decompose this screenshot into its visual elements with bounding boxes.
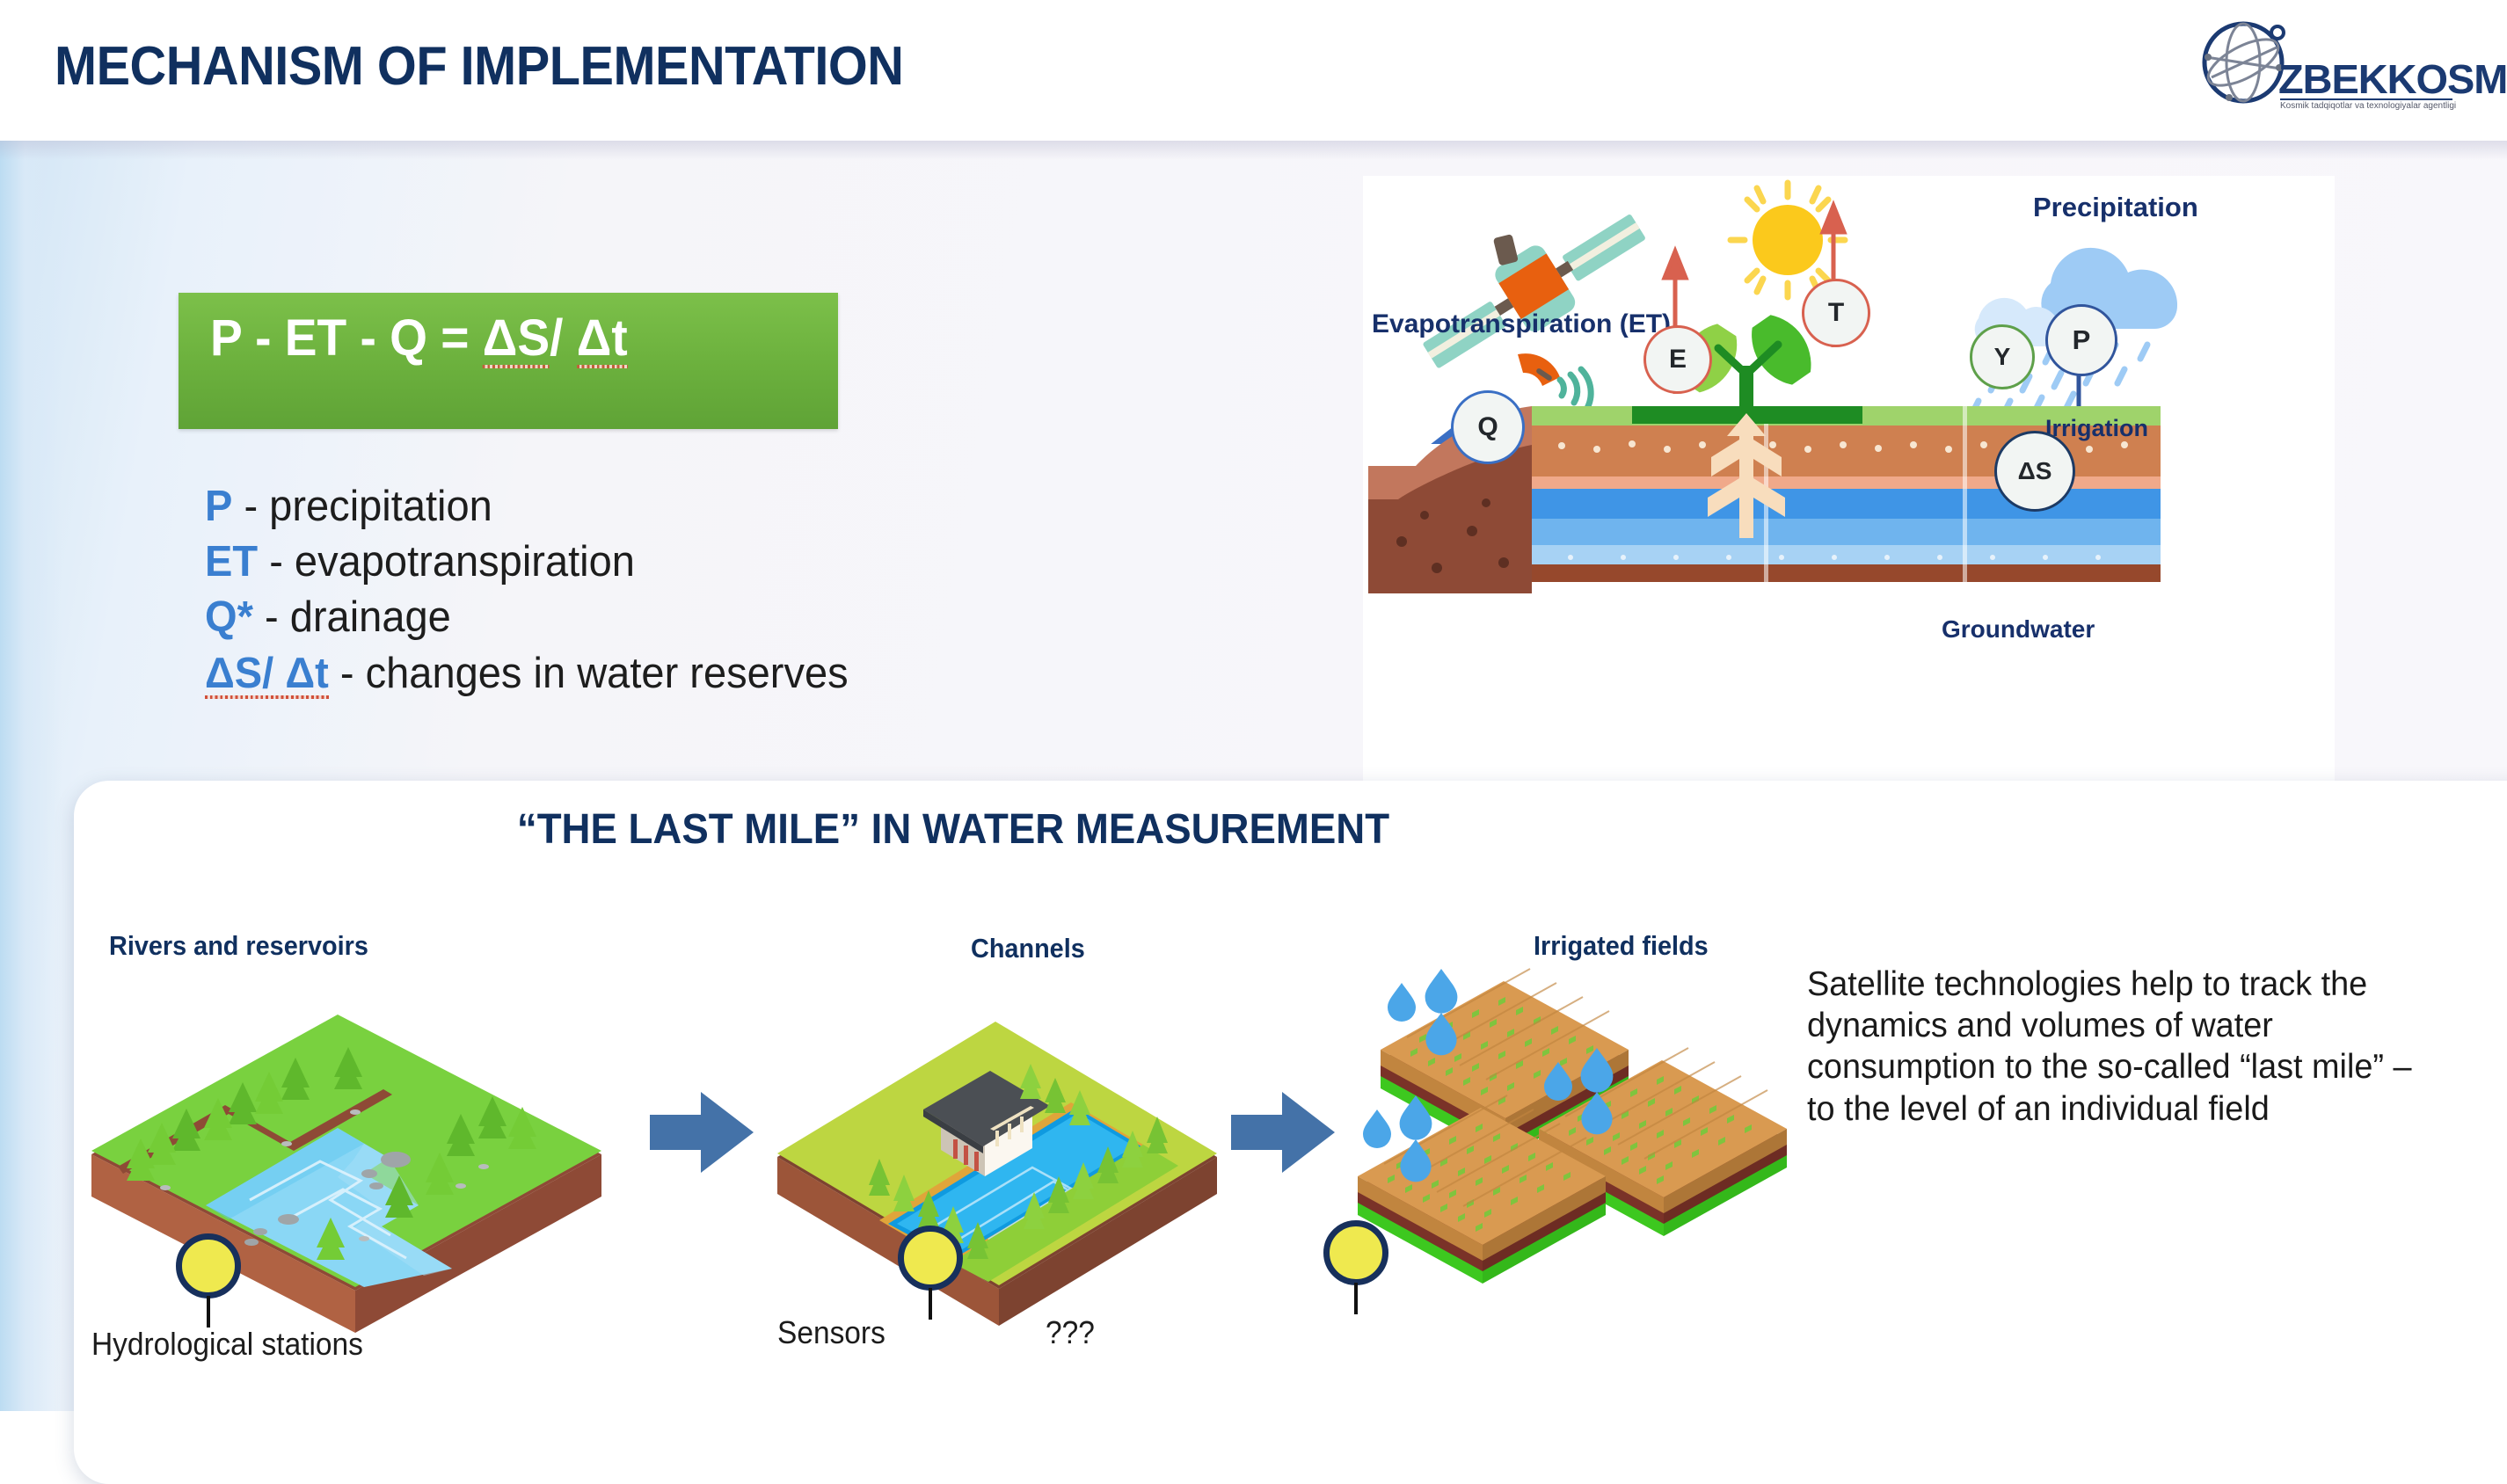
legend-symbol-et: ET xyxy=(205,538,258,586)
channel-illustration xyxy=(769,990,1226,1280)
last-mile-paragraph: Satellite technologies help to track the… xyxy=(1807,964,2438,1130)
marker-stem-field xyxy=(1354,1283,1358,1314)
marker-stem-sensor xyxy=(929,1288,932,1320)
marker-hydrological-station[interactable] xyxy=(176,1233,241,1298)
legend-row-drainage: Q* - drainage xyxy=(205,590,1218,645)
label-irrigation: Irrigation xyxy=(2045,415,2148,442)
label-evapotranspiration: Evapotranspiration (ET) xyxy=(1372,309,1671,339)
formula-legend: P - precipitation ET - evapotranspiratio… xyxy=(205,479,1218,702)
formula-delta-s: ΔS xyxy=(483,309,550,367)
caption-unknown: ??? xyxy=(1046,1314,1095,1351)
column-title-channels: Channels xyxy=(971,933,1085,964)
legend-text-q: - drainage xyxy=(253,593,451,641)
last-mile-card: “THE LAST MILE” IN WATER MEASUREMENT Riv… xyxy=(74,781,2507,1484)
legend-symbol-q: Q xyxy=(205,593,237,641)
legend-text-ds-dt: - changes in water reserves xyxy=(329,650,849,697)
node-evaporation: E xyxy=(1643,325,1712,394)
node-precipitation: P xyxy=(2045,304,2117,376)
satellite-icon xyxy=(1395,176,1657,410)
formula-text: P - ET - Q = ΔS/ Δt xyxy=(210,309,628,367)
legend-symbol-ds-dt: ΔS/ Δt xyxy=(205,650,329,697)
caption-sensors: Sensors xyxy=(777,1314,885,1351)
column-title-rivers: Rivers and reservoirs xyxy=(109,930,368,962)
formula-delta-t: Δt xyxy=(577,309,628,367)
flow-arrow-2-icon xyxy=(1231,1088,1337,1176)
legend-symbol-p: P xyxy=(205,483,232,530)
last-mile-title: “THE LAST MILE” IN WATER MEASUREMENT xyxy=(118,805,1789,854)
formula-box: P - ET - Q = ΔS/ Δt xyxy=(179,293,838,429)
irrigated-fields-illustration xyxy=(1323,967,1780,1275)
formula-slash: / xyxy=(550,309,577,367)
node-transpiration: T xyxy=(1802,279,1870,347)
formula-lhs: P - ET - Q = xyxy=(210,309,483,367)
node-storage-change: ΔS xyxy=(1994,431,2075,512)
logo-tagline: Kosmik tadqiqotlar va texnologiyalar age… xyxy=(2280,101,2456,111)
node-yield: Y xyxy=(1970,324,2035,389)
flow-arrow-1-icon xyxy=(650,1088,755,1176)
page-title: MECHANISM OF IMPLEMENTATION xyxy=(55,35,903,98)
header-shadow xyxy=(0,141,2507,160)
water-cycle-diagram: Precipitation Evapotranspiration (ET) Ir… xyxy=(1363,176,2335,782)
uzbekkosmos-logo: ZBEKKOSMOS Kosmik tadqiqotlar va texnolo… xyxy=(2192,16,2456,120)
legend-row-storage: ΔS/ Δt - changes in water reserves xyxy=(205,646,1218,702)
legend-symbol-q-asterisk: * xyxy=(237,593,253,641)
legend-text-et: - evapotranspiration xyxy=(258,538,635,586)
node-drainage: Q xyxy=(1451,390,1525,464)
marker-sensor[interactable] xyxy=(898,1226,963,1291)
logo-wordmark: ZBEKKOSMOS xyxy=(2278,55,2507,103)
legend-row-precipitation: P - precipitation xyxy=(205,479,1218,535)
marker-field-unknown[interactable] xyxy=(1323,1220,1388,1285)
water-cycle-graphics xyxy=(1363,176,2335,782)
marker-stem-hydrological xyxy=(207,1296,210,1328)
label-groundwater: Groundwater xyxy=(1942,615,2095,644)
label-precipitation: Precipitation xyxy=(2033,192,2198,223)
legend-row-evapotranspiration: ET - evapotranspiration xyxy=(205,535,1218,590)
column-title-fields: Irrigated fields xyxy=(1534,930,1709,962)
legend-text-p: - precipitation xyxy=(232,483,492,530)
river-reservoir-illustration xyxy=(74,978,619,1277)
caption-hydrological-stations: Hydrological stations xyxy=(91,1326,363,1363)
logo-divider xyxy=(2280,98,2452,100)
